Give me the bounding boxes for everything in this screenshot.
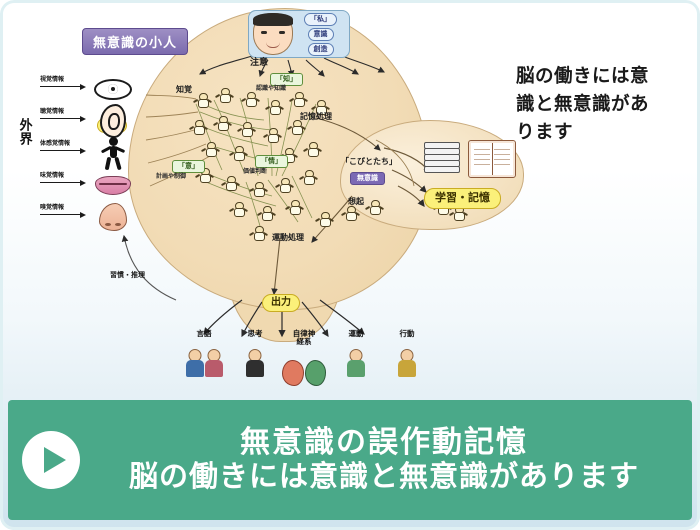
motor-processing-label: 運動処理 [272,234,304,242]
output-item-autonomic: 自律神 経系 [278,330,330,386]
book-stack-icon [424,142,458,176]
kobito-figure [232,146,245,161]
kobito-figure [290,120,303,135]
output-badge: 出力 [262,294,300,312]
node-sub-i: 計画や制御 [156,174,186,180]
kobito-figure [292,92,305,107]
output-label-movement: 運動 [330,330,382,338]
nose-icon [90,200,136,234]
lips-icon [90,168,136,202]
kobito-figure [288,200,301,215]
infographic-card: 無意識の小人 外界 視覚情報 聴覚情報 体感覚情報 味覚情報 嗅覚情報 [0,0,700,530]
banner-title: 無意識の誤作動記憶 [90,426,678,461]
kobito-figure [232,202,245,217]
eye-icon [90,72,136,106]
headline-line-2: 識と無意識があ [516,90,686,118]
habit-reasoning-label: 習慣・推理 [110,272,145,279]
kobito-figure [344,206,357,221]
kobito-figure [252,182,265,197]
kobito-figure [196,93,209,108]
face-icon [253,13,293,55]
conscious-label-self: 「私」 [304,13,337,26]
kobito-label: 「こびとたち」 [341,158,397,166]
sense-arrow-taste [40,182,84,183]
sense-arrow-smell [40,214,84,215]
headline-line-1: 脳の働きには意 [516,62,686,90]
kobito-figure [224,176,237,191]
brain-diagram: 無意識の小人 外界 視覚情報 聴覚情報 体感覚情報 味覚情報 嗅覚情報 [0,0,700,398]
sense-arrow-hearing [40,118,84,119]
headline-line-3: ります [516,118,686,146]
thinking-person-icon [233,341,277,377]
output-label-thought: 思考 [229,330,281,338]
body-icon [90,136,136,170]
sense-row-somatic: 体感覚情報 [40,136,136,170]
kobito-figure [218,88,231,103]
kobito-figure [368,200,381,215]
organs-icon [282,350,326,386]
sense-label-smell: 嗅覚情報 [40,202,64,211]
ear-icon [90,104,136,138]
kobito-figure [306,142,319,157]
learning-memory-badge: 学習・記憶 [424,188,501,209]
recall-label: 想起 [348,198,364,206]
conscious-label-creation: 創造 [308,43,334,56]
sense-arrow-vision [40,86,84,87]
node-badge-jo: 「情」 [255,155,288,168]
kobito-figure [244,92,257,107]
external-world-label: 外界 [18,118,32,146]
gymnast-icon [334,341,378,377]
kobito-figure [192,120,205,135]
output-label-language: 言語 [178,330,230,338]
sense-label-vision: 視覚情報 [40,74,64,83]
kobito-figure [278,178,291,193]
kobito-figure [240,122,253,137]
open-book-icon [468,140,516,178]
kobito-figure [252,226,265,241]
diagram-title-badge: 無意識の小人 [82,28,188,55]
output-item-movement: 運動 [330,330,382,377]
output-label-behavior: 行動 [381,330,433,338]
node-sub-chi: 認識や知識 [256,86,286,92]
attention-label: 注意 [250,58,268,67]
sense-row-smell: 嗅覚情報 [40,200,136,234]
play-icon[interactable] [22,431,80,489]
sense-label-somatic: 体感覚情報 [40,138,70,147]
node-badge-i: 「意」 [172,160,205,173]
output-item-thought: 思考 [229,330,281,377]
banner-subtitle: 脳の働きには意識と無意識があります [90,461,678,495]
headline-text: 脳の働きには意 識と無意識があ ります [516,62,686,146]
kobito-figure [266,128,279,143]
banner-text: 無意識の誤作動記憶 脳の働きには意識と無意識があります [90,426,678,494]
output-item-behavior: 行動 [381,330,433,377]
conscious-self-box: 「私」 意識 創造 [248,10,350,58]
perception-label: 知覚 [176,86,192,94]
unconscious-badge: 無意識 [350,172,385,185]
kobito-figure [302,170,315,185]
output-item-language: 言語 [178,330,230,377]
sense-label-hearing: 聴覚情報 [40,106,64,115]
sense-row-taste: 味覚情報 [40,168,136,202]
kobito-figure [318,212,331,227]
sense-arrow-somatic [40,150,84,151]
memory-processing-label: 記憶処理 [300,113,332,121]
sense-row-vision: 視覚情報 [40,72,136,106]
kobito-figure [260,206,273,221]
kobito-figure [204,142,217,157]
kobito-figure [216,116,229,131]
output-label-autonomic: 自律神 経系 [278,330,330,347]
kobito-figure [268,100,281,115]
node-sub-jo: 価値判断 [243,169,267,175]
sense-row-hearing: 聴覚情報 [40,104,136,138]
conscious-label-consciousness: 意識 [308,28,334,41]
video-banner[interactable]: 無意識の誤作動記憶 脳の働きには意識と無意識があります [8,400,692,520]
running-person-icon [385,341,429,377]
sense-label-taste: 味覚情報 [40,170,64,179]
talking-people-icon [182,341,226,377]
node-badge-chi: 「知」 [270,73,303,86]
